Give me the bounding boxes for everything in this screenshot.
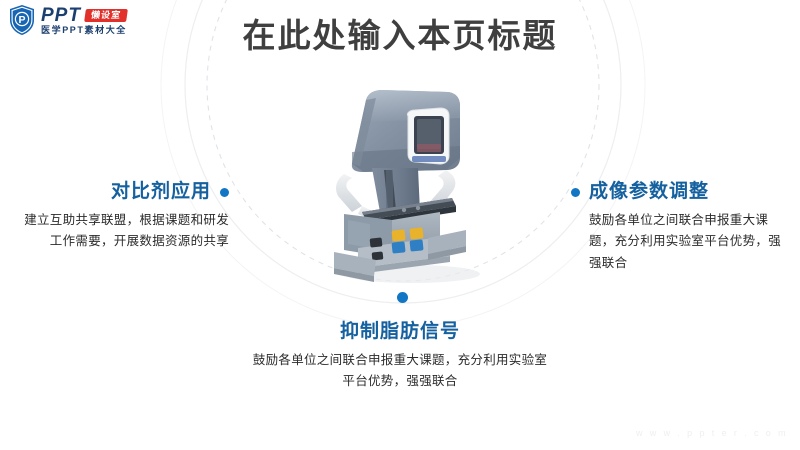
bullet-dot-icon [220,188,229,197]
callout-block-right[interactable]: 成像参数调整 鼓励各单位之间联合申报重大课题，充分利用实验室平台优势，强强联合 [571,182,783,274]
surgical-robot-console-image [300,62,520,292]
callout-left-heading: 对比剂应用 [111,182,211,203]
callout-block-bottom[interactable]: 抑制脂肪信号 鼓励各单位之间联合申报重大课题，充分利用实验室平台优势，强强联合 [250,322,550,393]
callout-left-heading-row: 对比剂应用 [24,182,229,203]
callout-right-body: 鼓励各单位之间联合申报重大课题，充分利用实验室平台优势，强强联合 [571,210,783,275]
bullet-dot-icon-bottom [397,292,408,303]
callout-right-heading-row: 成像参数调整 [571,182,783,203]
bullet-dot-icon [571,188,580,197]
watermark-url: w w w . p p t e r . c o m [636,428,788,438]
slide-canvas: P PPT 懒设室 医学PPT素材大全 在此处输入本页标题 [0,0,800,450]
callout-bottom-heading: 抑制脂肪信号 [340,322,460,343]
callout-right-heading: 成像参数调整 [589,182,709,203]
callout-block-left[interactable]: 对比剂应用 建立互助共享联盟，根据课题和研发工作需要，开展数据资源的共享 [24,182,229,253]
page-title: 在此处输入本页标题 [0,16,800,56]
callout-bottom-body: 鼓励各单位之间联合申报重大课题，充分利用实验室平台优势，强强联合 [250,350,550,393]
callout-left-body: 建立互助共享联盟，根据课题和研发工作需要，开展数据资源的共享 [24,210,229,253]
callout-bottom-heading-row: 抑制脂肪信号 [250,322,550,343]
